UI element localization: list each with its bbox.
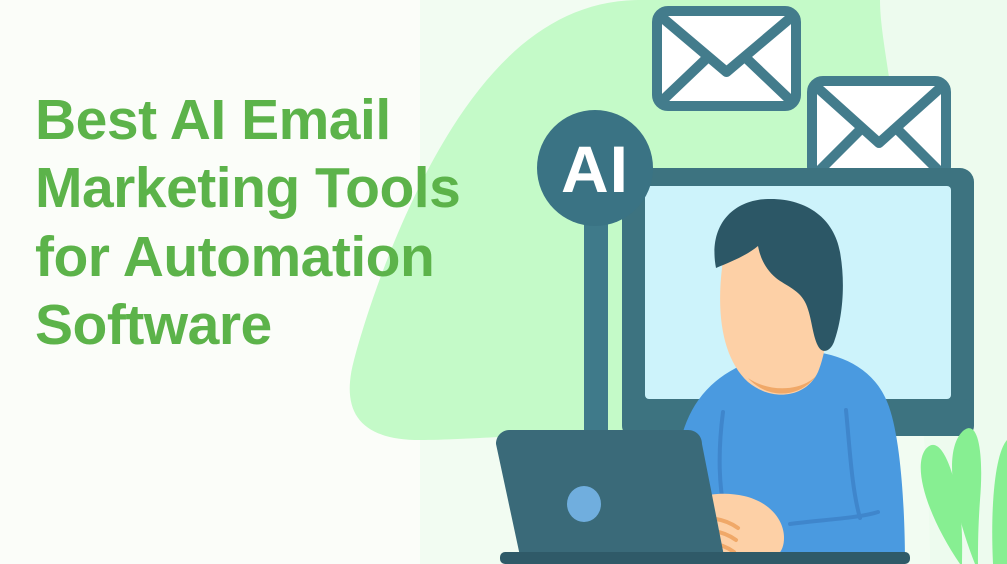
hero-banner: AI: [0, 0, 1007, 564]
envelope-back-icon: [657, 11, 796, 106]
laptop-base: [500, 552, 910, 564]
laptop-lid: [496, 430, 724, 556]
laptop-logo-icon: [567, 486, 601, 522]
envelope-front-icon: [812, 81, 946, 178]
ai-badge-label: AI: [561, 132, 629, 206]
page-title: Best AI Email Marketing Tools for Automa…: [35, 86, 555, 360]
